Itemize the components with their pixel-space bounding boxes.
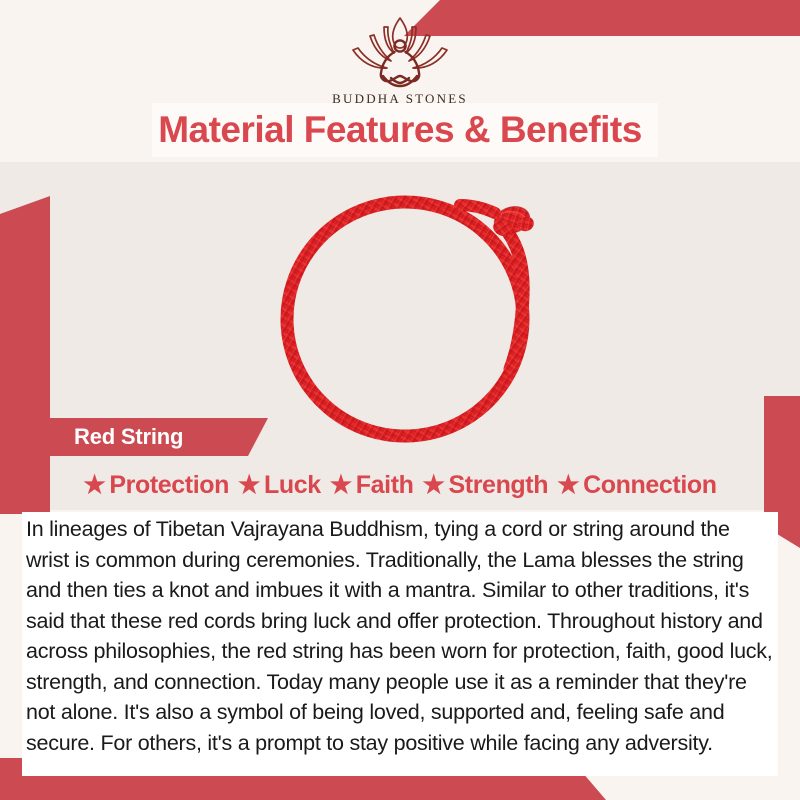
lotus-meditation-icon [337,14,463,90]
star-icon: ★ [238,473,260,498]
infographic-page: BUDDHA STONES Material Features & Benefi… [0,0,800,800]
benefit-label: Luck [264,471,321,500]
benefits-row: ★ Protection ★ Luck ★ Faith ★ Strength ★… [0,466,800,504]
benefit-item-protection: ★ Protection [83,471,229,500]
product-ribbon-label: Red String [74,418,183,456]
star-icon: ★ [330,473,352,498]
description-text: In lineages of Tibetan Vajrayana Buddhis… [26,514,774,758]
benefit-label: Protection [109,471,229,500]
benefit-item-connection: ★ Connection [548,471,717,500]
star-icon: ★ [423,473,445,498]
benefit-item-faith: ★ Faith [321,471,414,500]
benefit-label: Connection [583,471,717,500]
star-icon: ★ [557,473,579,498]
page-title: Material Features & Benefits [0,103,800,157]
benefit-label: Strength [449,471,549,500]
product-image-red-string-bracelet [262,172,580,450]
benefit-item-luck: ★ Luck [229,471,321,500]
benefit-label: Faith [356,471,414,500]
star-icon: ★ [83,473,105,498]
brand-logo: BUDDHA STONES [0,14,800,107]
benefit-item-strength: ★ Strength [414,471,549,500]
